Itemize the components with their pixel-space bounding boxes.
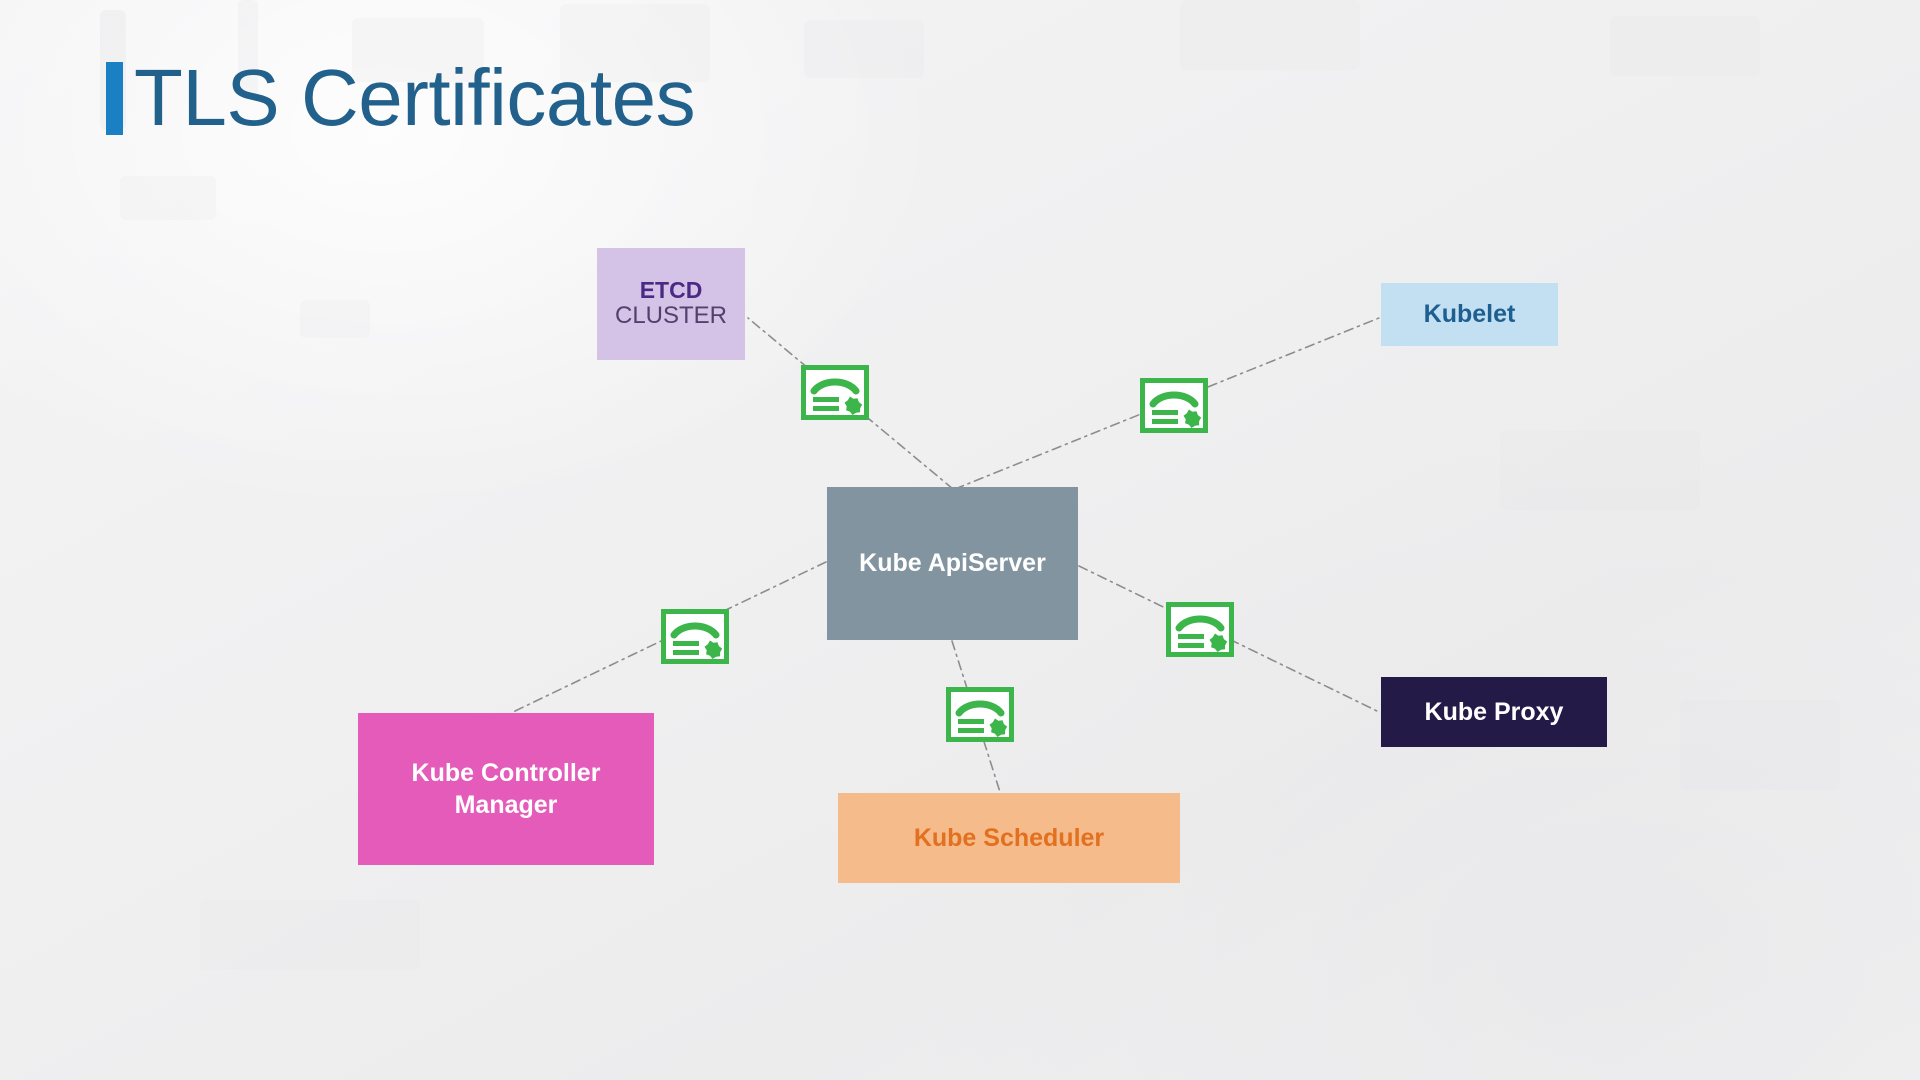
background-texture: [804, 20, 924, 78]
node-kubelet-label: Kubelet: [1381, 300, 1558, 329]
certificate-icon: [1166, 602, 1234, 657]
node-controller-label-line1: Kube Controller: [366, 757, 646, 789]
node-kube-scheduler[interactable]: Kube Scheduler: [838, 793, 1180, 883]
node-kube-proxy[interactable]: Kube Proxy: [1381, 677, 1607, 747]
background-texture: [1500, 430, 1700, 510]
certificate-icon: [946, 687, 1014, 742]
background-texture: [1180, 0, 1360, 70]
background-texture: [120, 176, 216, 220]
certificate-icon: [801, 365, 869, 420]
slide-canvas: TLS Certificates ETCD CLUSTER Kubelet Ku…: [0, 0, 1920, 1080]
node-scheduler-label: Kube Scheduler: [838, 824, 1180, 853]
node-apiserver-label: Kube ApiServer: [827, 549, 1078, 578]
background-texture: [300, 300, 370, 338]
node-controller-label: Kube Controller Manager: [358, 757, 654, 821]
background-texture: [1610, 16, 1760, 76]
node-kube-controller-manager[interactable]: Kube Controller Manager: [358, 713, 654, 865]
certificate-icon: [661, 609, 729, 664]
certificate-icon: [1140, 378, 1208, 433]
background-texture: [200, 900, 420, 970]
node-etcd-label-line2: CLUSTER: [605, 303, 737, 330]
node-etcd-label: ETCD CLUSTER: [597, 278, 745, 331]
page-title: TLS Certificates: [134, 58, 695, 138]
node-kubelet[interactable]: Kubelet: [1381, 283, 1558, 346]
node-controller-label-line2: Manager: [366, 789, 646, 821]
node-etcd-label-line1: ETCD: [605, 278, 737, 304]
node-kube-apiserver[interactable]: Kube ApiServer: [827, 487, 1078, 640]
background-texture: [1680, 700, 1840, 790]
node-proxy-label: Kube Proxy: [1381, 698, 1607, 727]
node-etcd-cluster[interactable]: ETCD CLUSTER: [597, 248, 745, 360]
title-accent-bar: [106, 62, 123, 135]
slide-title-block: TLS Certificates: [106, 58, 695, 138]
